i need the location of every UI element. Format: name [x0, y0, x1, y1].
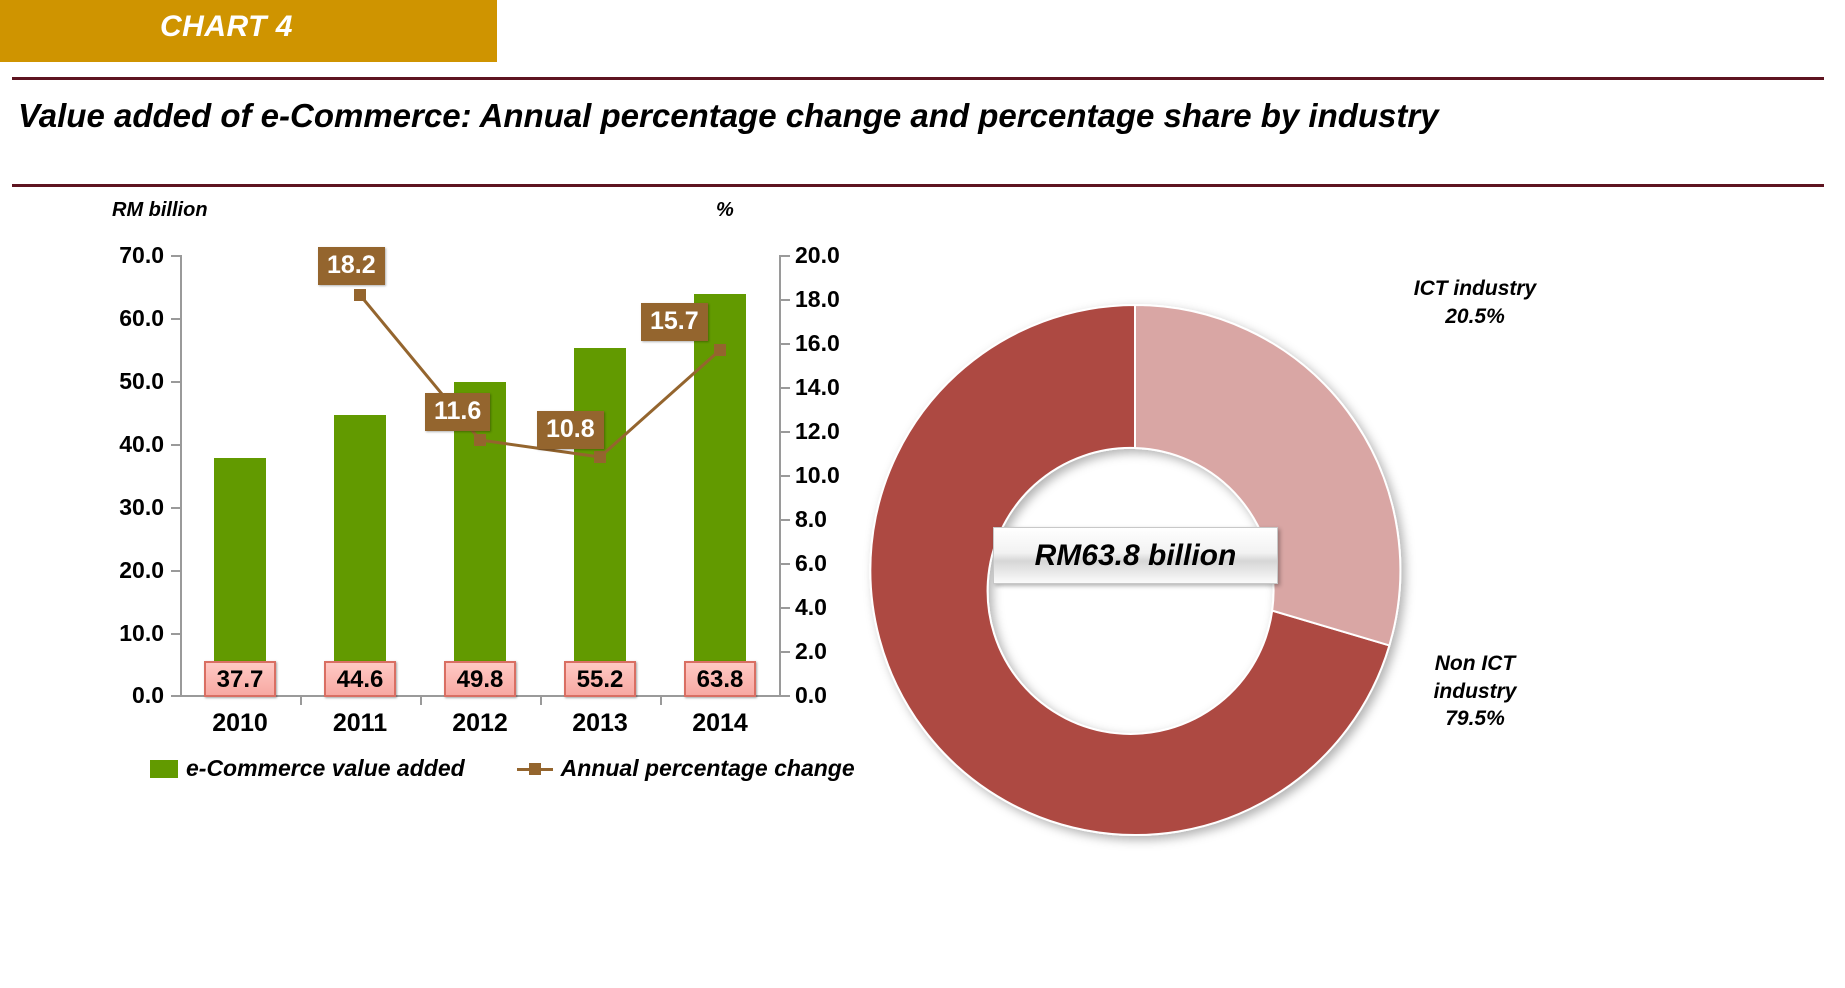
donut-slice-ict-industry[interactable] — [1135, 305, 1400, 645]
category-label-2011: 2011 — [300, 709, 420, 738]
line-marker-2013[interactable] — [594, 451, 606, 463]
chart-legend: e-Commerce value added Annual percentage… — [150, 755, 855, 782]
category-label-2013: 2013 — [540, 709, 660, 738]
legend-item-annual-percentage-change[interactable]: Annual percentage change — [517, 755, 855, 782]
bar-data-label-2010: 37.7 — [204, 661, 276, 697]
chart-number-tag: CHART 4 — [0, 0, 497, 62]
bar-data-label-2013: 55.2 — [564, 661, 636, 697]
donut-label-ict-industry: ICT industry 20.5% — [1350, 275, 1600, 330]
bar-swatch-icon — [150, 760, 178, 778]
line-marker-2014[interactable] — [714, 344, 726, 356]
bar-data-label-2012: 49.8 — [444, 661, 516, 697]
donut-chart: RM63.8 billion ICT industry 20.5% Non IC… — [860, 215, 1845, 975]
line-data-label-2012: 11.6 — [425, 393, 490, 431]
category-label-2014: 2014 — [660, 709, 780, 738]
category-label-2010: 2010 — [180, 709, 300, 738]
category-label-2012: 2012 — [420, 709, 540, 738]
chart-number-label: CHART 4 — [160, 10, 293, 44]
bar-data-label-2014: 63.8 — [684, 661, 756, 697]
line-data-label-2013: 10.8 — [537, 411, 604, 449]
line-data-label-2014: 15.7 — [641, 303, 708, 341]
bar-data-label-2011: 44.6 — [324, 661, 396, 697]
line-marker-2012[interactable] — [474, 434, 486, 446]
donut-label-non-ict-industry: Non ICT industry 79.5% — [1350, 650, 1600, 733]
line-marker-2011[interactable] — [354, 289, 366, 301]
page-title: Value added of e-Commerce: Annual percen… — [18, 97, 1439, 135]
donut-center-total-label: RM63.8 billion — [993, 527, 1278, 584]
legend-item-ecommerce-value-added[interactable]: e-Commerce value added — [150, 755, 465, 782]
header-rule-top — [12, 77, 1824, 80]
legend-label: e-Commerce value added — [186, 755, 465, 782]
legend-label: Annual percentage change — [561, 755, 855, 782]
combo-chart: RM billion % 70.0 60.0 50.0 40.0 30.0 20… — [0, 185, 950, 988]
line-marker-icon — [517, 762, 553, 776]
line-data-label-2011: 18.2 — [318, 247, 385, 285]
